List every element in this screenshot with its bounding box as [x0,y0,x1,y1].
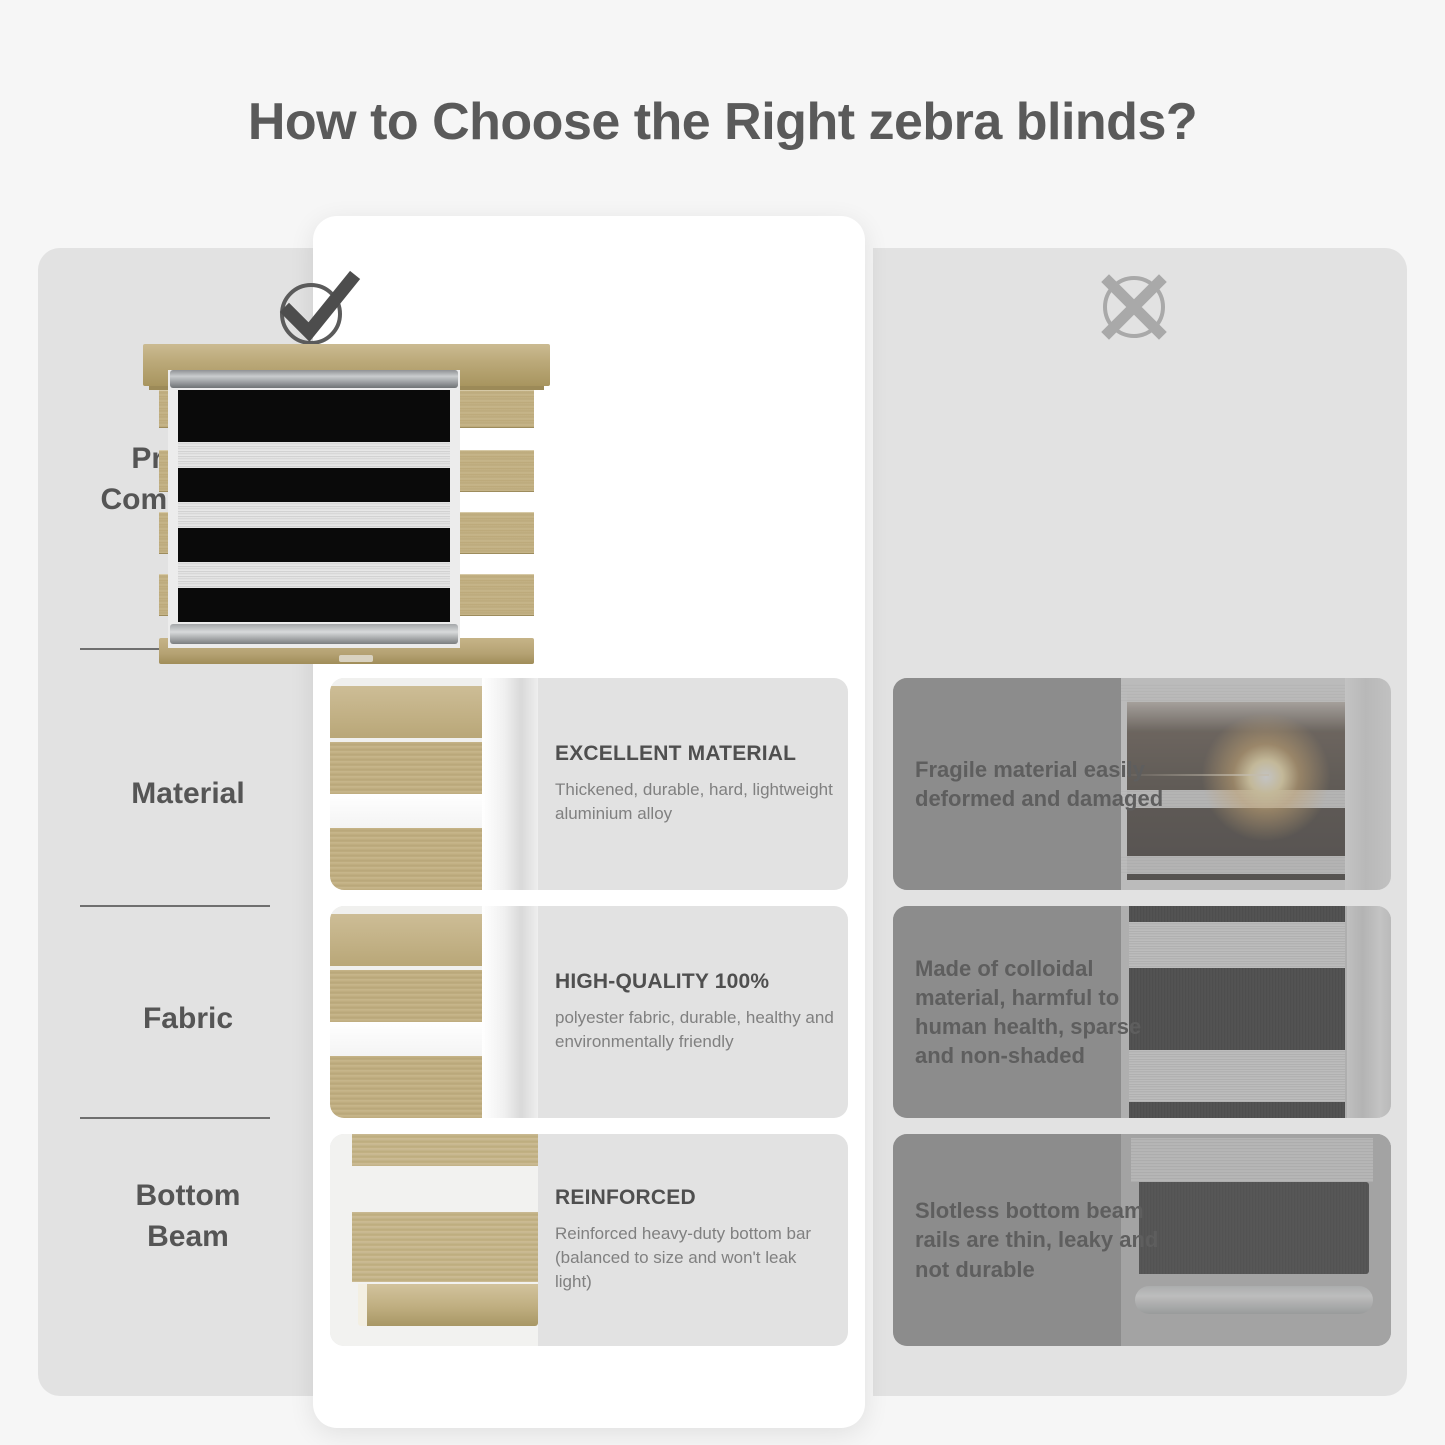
window-frame-shape [1347,906,1391,1118]
page-title: How to Choose the Right zebra blinds? [0,92,1445,152]
window-frame-shape [482,906,538,1118]
sun-flare-shape [1201,712,1331,842]
good-bottom-beam-photo [330,1134,538,1346]
bad-bottom-beam-heading: Slotless bottom beam rails are thin, lea… [915,1196,1165,1283]
bad-hero-sheer-stripe [178,502,450,528]
bad-hero-fabric [178,390,450,622]
good-fabric-photo [330,906,538,1118]
reinforced-bottom-bar-shape [358,1284,538,1326]
bad-hero-sheer-stripe [178,562,450,588]
bad-feature-card-fabric: Made of colloidal material, harmful to h… [893,906,1391,1118]
row-label-fabric: Fabric [38,998,338,1039]
row-divider-2 [80,905,270,907]
good-material-description: Thickened, durable, hard, lightweight al… [555,778,834,826]
bad-hero-headrail [170,370,458,388]
good-feature-card-fabric: HIGH-QUALITY 100% polyester fabric, dura… [330,906,848,1118]
bad-material-text-block: Fragile material easily deformed and dam… [915,678,1165,890]
good-material-heading: EXCELLENT MATERIAL [555,742,834,766]
good-fabric-description: polyester fabric, durable, healthy and e… [555,1006,834,1054]
beige-slat-shape [352,1134,538,1166]
bad-feature-card-material: Fragile material easily deformed and dam… [893,678,1391,890]
beige-headrail-shape [330,686,506,738]
row-label-bottom-beam: Bottom Beam [38,1175,338,1258]
bad-hero-bottom-rail [170,624,458,644]
row-label-line1: Bottom [136,1179,241,1212]
row-label-line2: Beam [147,1220,229,1253]
bad-hero-product-image [168,370,460,648]
bad-hero-sheer-stripe [178,442,450,468]
good-bottom-beam-description: Reinforced heavy-duty bottom bar (balanc… [555,1222,834,1294]
good-feature-card-bottom-beam: REINFORCED Reinforced heavy-duty bottom … [330,1134,848,1346]
good-fabric-text-block: HIGH-QUALITY 100% polyester fabric, dura… [555,906,834,1118]
bad-fabric-text-block: Made of colloidal material, harmful to h… [915,906,1165,1118]
good-bottom-beam-heading: REINFORCED [555,1186,834,1210]
cross-circle-icon [1089,266,1179,348]
good-material-text-block: EXCELLENT MATERIAL Thickened, durable, h… [555,678,834,890]
row-label-material: Material [38,773,338,814]
white-gap-shape [330,1022,502,1056]
window-frame-shape [1345,678,1391,890]
window-frame-shape [482,678,538,890]
beige-slat-shape [330,970,498,1022]
beige-slat-shape [330,1056,498,1118]
sheer-stripe-shape [1131,1138,1373,1182]
check-circle-icon [273,270,363,352]
comparison-board: Product Comparison Material Fabric Botto… [38,248,1407,1396]
beige-slat-shape [352,1212,538,1282]
row-label-line1: Fabric [143,1002,233,1035]
thin-bottom-rail-shape [1135,1286,1373,1314]
good-material-photo [330,678,538,890]
beige-headrail-shape [330,914,506,966]
good-bottom-beam-text-block: REINFORCED Reinforced heavy-duty bottom … [555,1134,834,1346]
good-feature-card-material: EXCELLENT MATERIAL Thickened, durable, h… [330,678,848,890]
good-fabric-heading: HIGH-QUALITY 100% [555,970,834,994]
white-gap-shape [330,794,502,828]
beige-slat-shape [330,742,498,794]
bad-bottom-beam-text-block: Slotless bottom beam rails are thin, lea… [915,1134,1165,1346]
row-label-line1: Material [131,777,244,810]
bad-material-heading: Fragile material easily deformed and dam… [915,755,1165,813]
beige-slat-shape [330,828,498,890]
row-divider-3 [80,1117,270,1119]
bad-fabric-heading: Made of colloidal material, harmful to h… [915,954,1165,1070]
black-stripe-shape [1139,1182,1369,1274]
bad-feature-card-bottom-beam: Slotless bottom beam rails are thin, lea… [893,1134,1391,1346]
